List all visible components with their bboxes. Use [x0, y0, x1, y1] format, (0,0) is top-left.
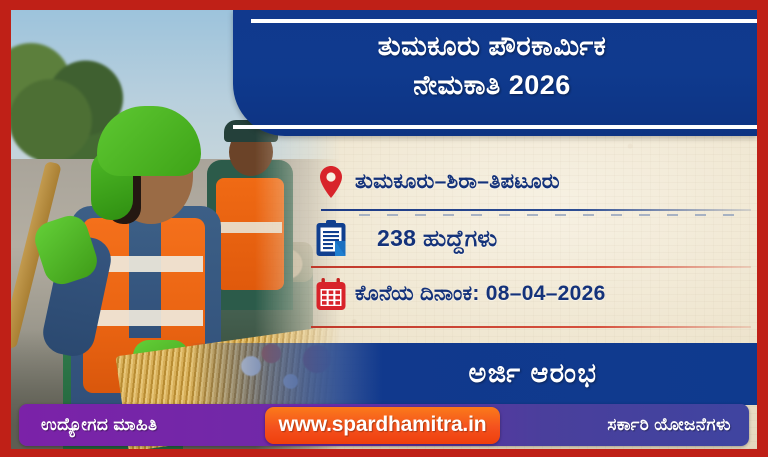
detail-text-location: ತುಮಕೂರು–ಶಿರಾ–ತಿಪಟೂರು — [355, 170, 560, 194]
detail-row-last-date: ಕೊನೆಯ ದಿನಾಂಕ: 08–04–2026 — [307, 266, 751, 322]
footer-left-label: ಉದ್ಯೋಗದ ಮಾಹಿತಿ — [29, 415, 157, 435]
calendar-icon — [307, 277, 355, 311]
header-banner: ತುಮಕೂರು ಪೌರಕಾರ್ಮಿಕ ನೇಮಕಾತಿ 2026 — [233, 10, 757, 136]
footer-right-label: ಸರ್ಕಾರಿ ಯೋಜನೆಗಳು — [607, 415, 739, 435]
website-button[interactable]: www.spardhamitra.in — [265, 407, 501, 444]
banner-bottom-rule — [233, 125, 757, 129]
detail-text-last-date: ಕೊನೆಯ ದಿನಾಂಕ: 08–04–2026 — [355, 282, 606, 306]
footer-bar: ಉದ್ಯೋಗದ ಮಾಹಿತಿ www.spardhamitra.in ಸರ್ಕಾ… — [19, 404, 749, 446]
poster-inner: ತುಮಕೂರು ಪೌರಕಾರ್ಮಿಕ ನೇಮಕಾತಿ 2026 ತುಮಕೂರು–… — [11, 10, 757, 449]
detail-separator-red — [311, 326, 751, 328]
photo-worker-two-vest — [216, 178, 284, 290]
page-title-line-1: ತುಮಕೂರು ಪೌರಕಾರ್ಮಿಕ — [233, 27, 751, 66]
detail-row-location: ತುಮಕೂರು–ಶಿರಾ–ತಿಪಟೂರು — [307, 154, 751, 210]
apply-now-text: ಅರ್ಜಿ ಆರಂಭ — [349, 358, 598, 390]
photo-worker-two-stripe — [218, 222, 282, 233]
apply-now-band: ಅರ್ಜಿ ಆರಂಭ — [189, 343, 757, 405]
detail-text-vacancies: 238 ಹುದ್ದೆಗಳು — [355, 225, 498, 252]
photo-worker-one-reflective-stripe — [85, 310, 203, 326]
page-title: ತುಮಕೂರು ಪೌರಕಾರ್ಮಿಕ ನೇಮಕಾತಿ 2026 — [233, 27, 751, 106]
detail-separator-dashed — [359, 214, 741, 216]
details-list: ತುಮಕೂರು–ಶಿರಾ–ತಿಪಟೂರು — [307, 154, 751, 334]
page-title-line-2: ನೇಮಕಾತಿ 2026 — [233, 66, 751, 105]
clipboard-icon — [307, 219, 355, 257]
location-pin-icon — [307, 165, 355, 199]
banner-top-rule — [251, 19, 757, 23]
poster-root: ತುಮಕೂರು ಪೌರಕಾರ್ಮಿಕ ನೇಮಕಾತಿ 2026 ತುಮಕೂರು–… — [0, 0, 768, 457]
detail-row-vacancies: 238 ಹುದ್ದೆಗಳು — [307, 210, 751, 266]
